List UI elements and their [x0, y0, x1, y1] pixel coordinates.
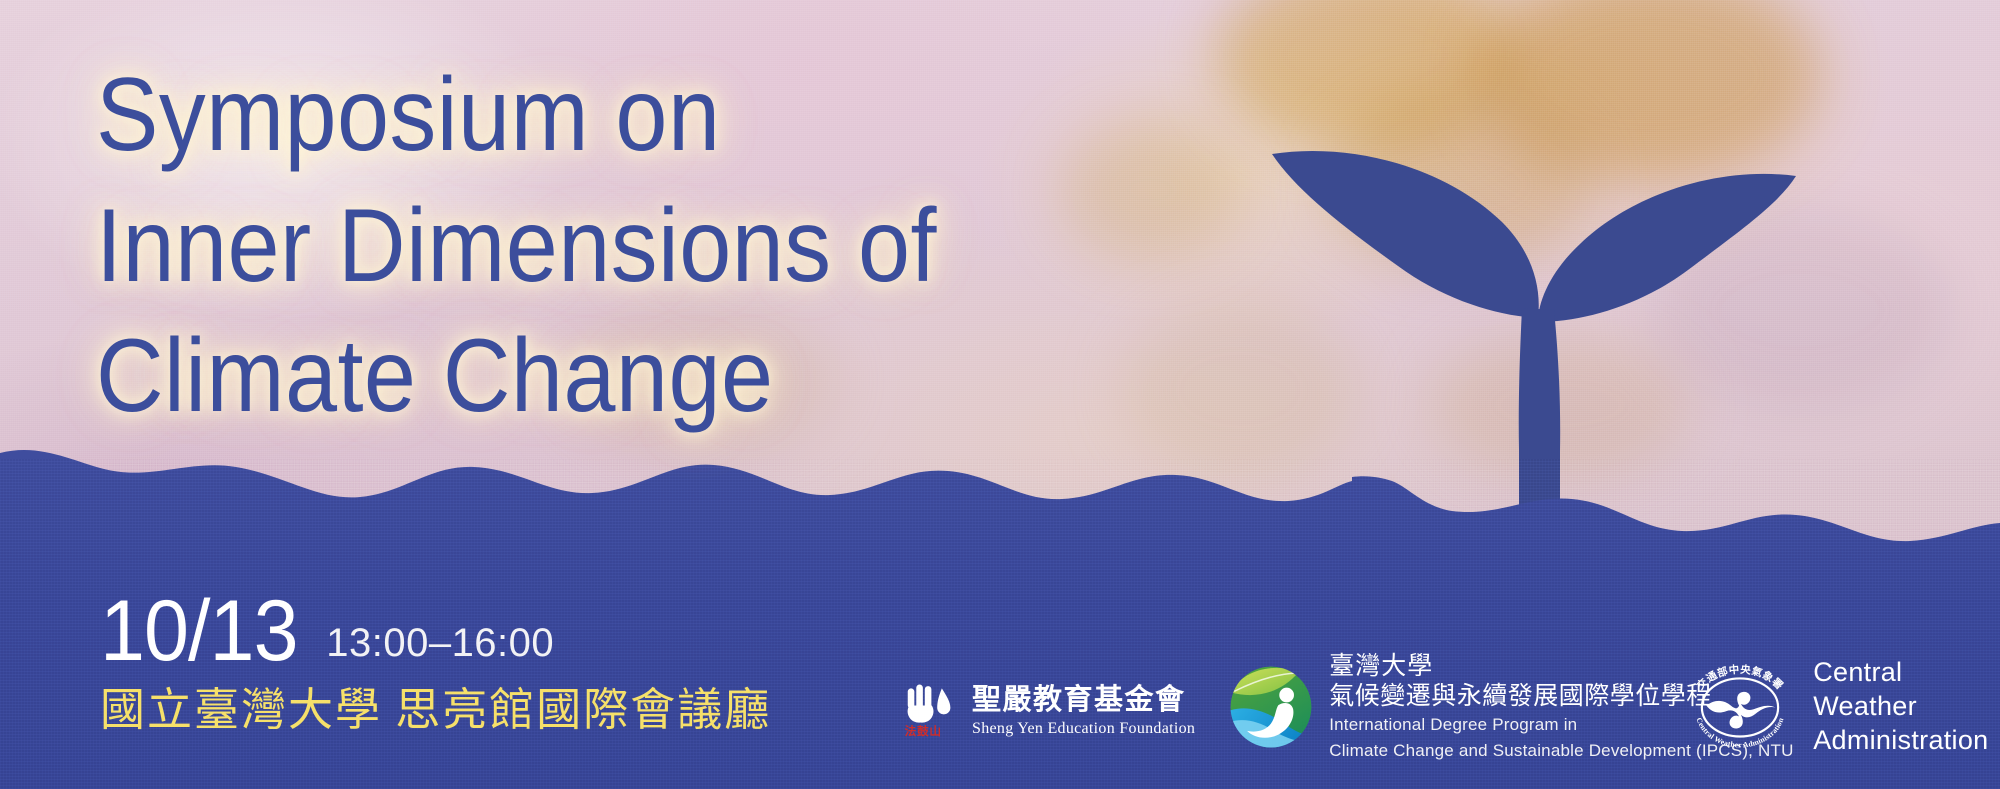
logo-central-weather-administration: 交通部中央氣象署 Central Weather Administration …	[1681, 653, 1988, 762]
cwa-name-line1: Central	[1813, 656, 1988, 690]
event-details: 10/13 13:00–16:00 國立臺灣大學 思亮館國際會議廳	[100, 588, 771, 736]
cwa-name-line2: Weather	[1813, 690, 1988, 724]
event-banner: Symposium on Inner Dimensions of Climate…	[0, 0, 2000, 789]
svg-text:法鼓山: 法鼓山	[905, 724, 942, 738]
event-time: 13:00–16:00	[326, 623, 554, 663]
title-line-2: Inner Dimensions of	[96, 185, 870, 308]
banner-title: Symposium on Inner Dimensions of Climate…	[96, 54, 956, 438]
event-venue: 國立臺灣大學 思亮館國際會議廳	[100, 686, 771, 736]
cwa-name-line3: Administration	[1813, 724, 1988, 758]
logo-sheng-yen-education-foundation: 法鼓山 聖嚴教育基金會 Sheng Yen Education Foundati…	[900, 676, 1195, 738]
sheng-yen-text: 聖嚴教育基金會 Sheng Yen Education Foundation	[972, 676, 1195, 738]
logo-ipcs-ntu: 臺灣大學 氣候變遷與永續發展國際學位學程 International Degre…	[1225, 652, 1665, 762]
sponsor-logo-row: 法鼓山 聖嚴教育基金會 Sheng Yen Education Foundati…	[900, 647, 1982, 767]
date-time-row: 10/13 13:00–16:00	[100, 588, 771, 674]
event-date: 10/13	[100, 588, 298, 674]
cwa-oval-badge-icon: 交通部中央氣象署 Central Weather Administration	[1681, 653, 1799, 762]
globe-leaf-water-figure-icon	[1225, 661, 1317, 753]
open-palm-hand-icon: 法鼓山	[900, 676, 962, 738]
title-line-1: Symposium on	[96, 54, 870, 177]
cwa-name: Central Weather Administration	[1813, 656, 1988, 757]
title-line-3: Climate Change	[96, 315, 870, 438]
sheng-yen-name-cn: 聖嚴教育基金會	[972, 676, 1195, 718]
sheng-yen-name-en: Sheng Yen Education Foundation	[972, 720, 1195, 738]
